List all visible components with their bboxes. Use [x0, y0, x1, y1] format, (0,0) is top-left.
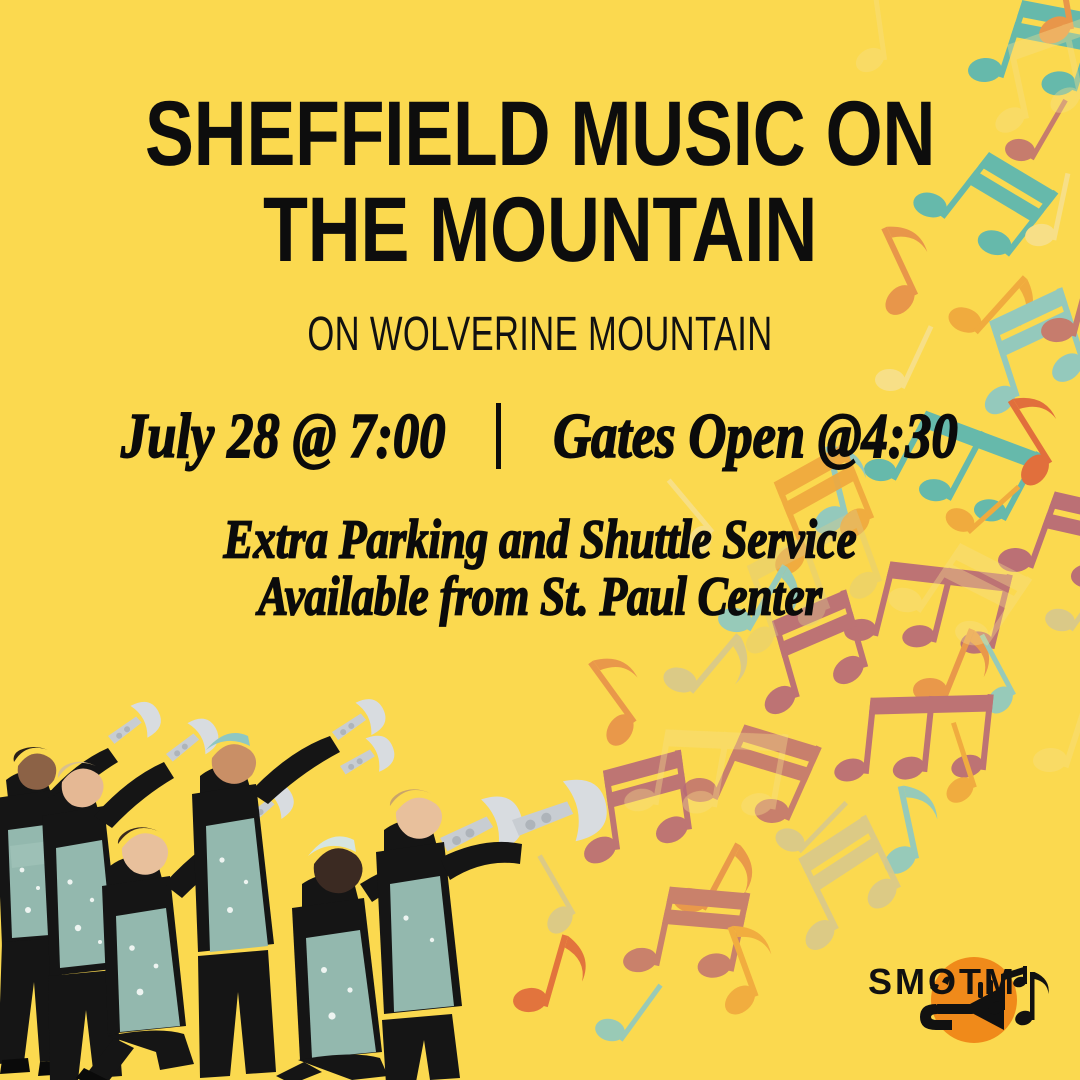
event-date-time: July 28 @ 7:00 — [121, 399, 445, 472]
performer-1 — [0, 696, 167, 1076]
parking-notice: Extra Parking and Shuttle Service Availa… — [0, 512, 1080, 627]
poster-title-line-1: SHEFFIELD MUSIC ON — [108, 92, 972, 178]
vertical-divider — [496, 403, 501, 469]
gates-open-time: Gates Open @4:30 — [554, 399, 958, 472]
parking-notice-line-2: Available from St. Paul Center — [22, 565, 1059, 632]
event-poster: SHEFFIELD MUSIC ON THE MOUNTAIN ON WOLVE… — [0, 0, 1080, 1080]
brass-line-performers-photo — [0, 670, 668, 1080]
poster-subtitle: ON WOLVERINE MOUNTAIN — [151, 307, 929, 362]
performer-6 — [376, 774, 612, 1080]
event-details-row: July 28 @ 7:00 Gates Open @4:30 — [0, 400, 1080, 472]
performer-4 — [192, 693, 399, 1078]
poster-title-line-2: THE MOUNTAIN — [108, 188, 972, 274]
performer-3 — [76, 777, 300, 1080]
performer-5 — [276, 789, 529, 1080]
smotm-logo: SMOTM — [866, 952, 1056, 1048]
performer-2 — [42, 712, 224, 1080]
